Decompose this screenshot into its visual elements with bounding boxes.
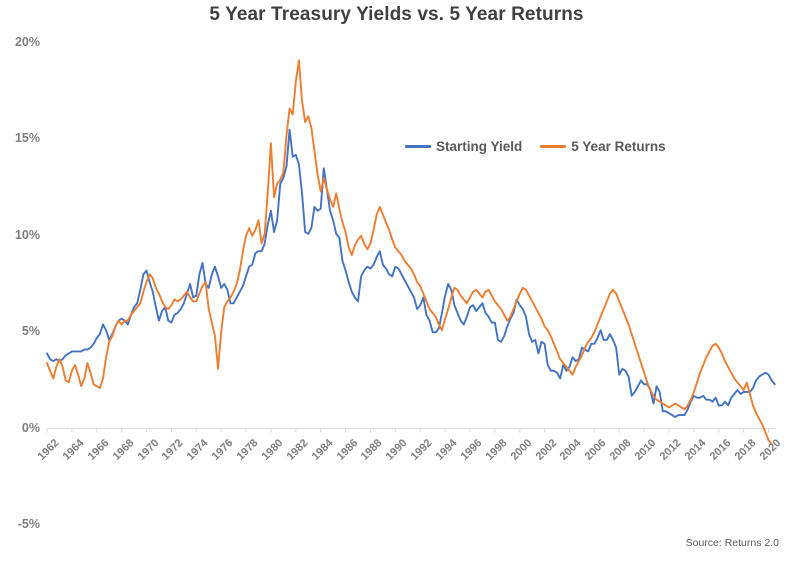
legend-item-five-year-returns[interactable]: 5 Year Returns — [540, 139, 665, 154]
y-axis-tick-label: 10% — [0, 228, 40, 242]
y-axis-tick-label: 5% — [0, 324, 40, 338]
legend-label: 5 Year Returns — [571, 139, 665, 154]
chart-legend: Starting Yield5 Year Returns — [405, 136, 666, 156]
legend-color-swatch — [540, 145, 566, 148]
y-axis-tick-label: 0% — [0, 421, 40, 435]
y-axis-tick-label: 15% — [0, 131, 40, 145]
legend-color-swatch — [405, 145, 431, 148]
y-axis-tick-label: 20% — [0, 35, 40, 49]
legend-label: Starting Yield — [436, 139, 522, 154]
axis-layer — [47, 429, 776, 433]
chart-plot-area: 20%15%10%5%0%-5% 19621964196619681970197… — [0, 0, 793, 561]
y-axis-tick-label: -5% — [0, 517, 40, 531]
source-note: Source: Returns 2.0 — [686, 537, 779, 549]
legend-item-starting-yield[interactable]: Starting Yield — [405, 139, 522, 154]
series-layer — [47, 60, 775, 444]
series-line-starting-yield — [47, 130, 775, 417]
series-line-five-year-returns — [47, 60, 772, 444]
